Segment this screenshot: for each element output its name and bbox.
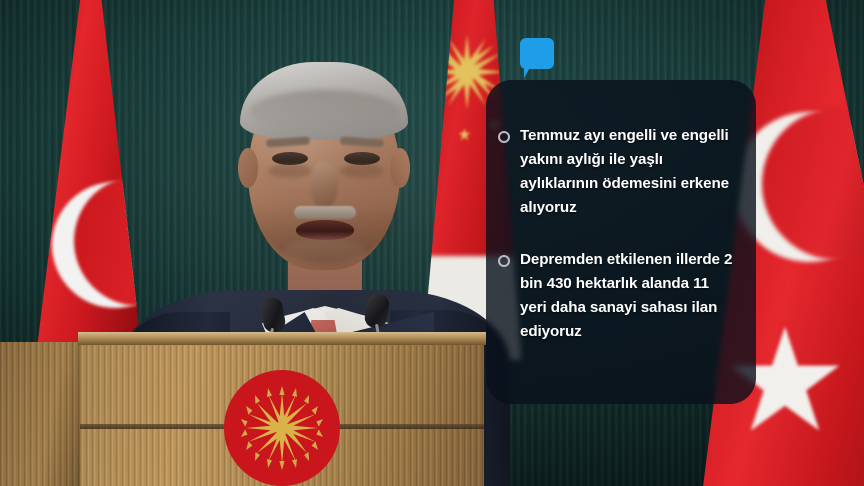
- hair-shadow: [250, 90, 400, 134]
- podium-side-panel: [0, 342, 82, 486]
- bullet-list: Temmuz ayı engelli ve engelli yakını ayl…: [498, 124, 750, 372]
- presidential-seal: [222, 368, 342, 486]
- mouth: [296, 220, 354, 240]
- list-item: Temmuz ayı engelli ve engelli yakını ayl…: [498, 124, 750, 220]
- under-eye-left: [268, 164, 312, 178]
- nose: [310, 162, 338, 210]
- list-item: Depremden etkilenen illerde 2 bin 430 he…: [498, 248, 750, 344]
- ear-right: [390, 148, 410, 188]
- bullet-circle-icon: [498, 131, 510, 143]
- under-eye-right: [340, 164, 384, 178]
- podium-top-edge: [78, 332, 486, 345]
- moustache: [294, 206, 356, 219]
- bullet-text: Temmuz ayı engelli ve engelli yakını ayl…: [520, 124, 738, 220]
- bullet-circle-icon: [498, 255, 510, 267]
- podium: [78, 332, 486, 486]
- ear-left: [238, 148, 258, 188]
- news-graphic-stage: Temmuz ayı engelli ve engelli yakını ayl…: [0, 0, 864, 486]
- speech-bubble-tail-icon: [524, 66, 536, 78]
- speech-bubble-icon: [520, 38, 554, 69]
- bullet-text: Depremden etkilenen illerde 2 bin 430 he…: [520, 248, 738, 344]
- chin-highlight: [284, 238, 366, 264]
